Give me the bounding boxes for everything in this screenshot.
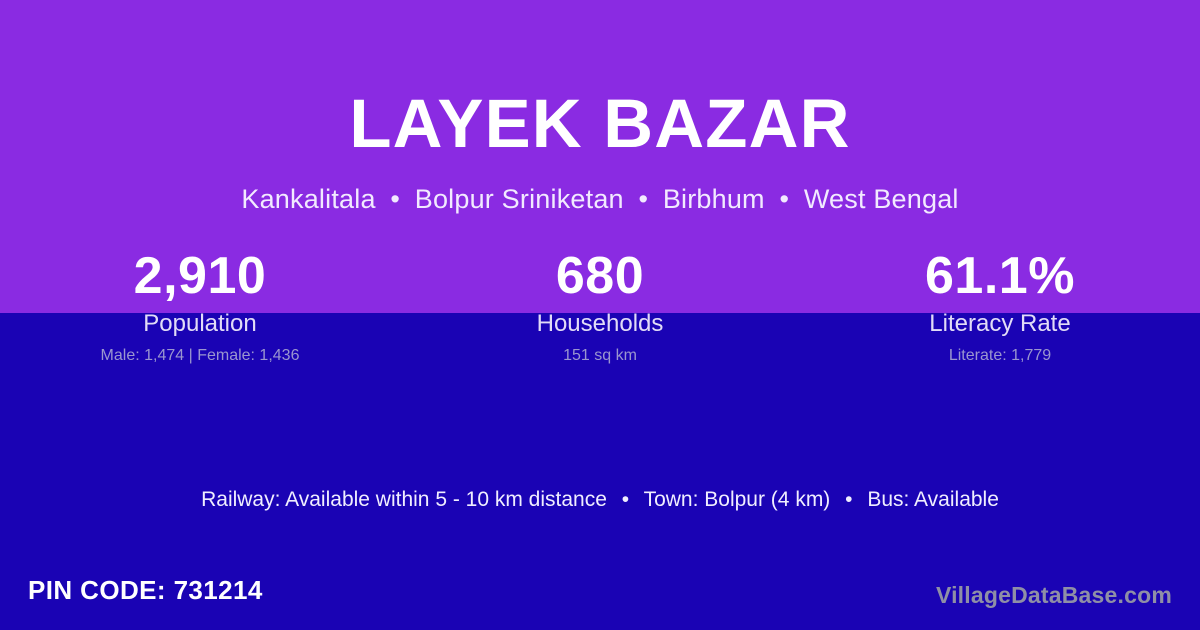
amenity-separator: • bbox=[613, 488, 638, 511]
breadcrumb-separator: • bbox=[772, 184, 796, 214]
footer: PIN CODE: 731214 VillageDataBase.com bbox=[0, 560, 1200, 630]
stat-literacy-rate: 61.1% Literacy Rate Literate: 1,779 bbox=[800, 245, 1200, 366]
pin-code: PIN CODE: 731214 bbox=[28, 574, 263, 606]
stat-value: 61.1% bbox=[800, 245, 1200, 307]
amenity-railway: Railway: Available within 5 - 10 km dist… bbox=[201, 488, 607, 511]
breadcrumb-separator: • bbox=[383, 184, 407, 214]
amenity-bus: Bus: Available bbox=[867, 488, 999, 511]
stats-row: 2,910 Population Male: 1,474 | Female: 1… bbox=[0, 245, 1200, 366]
stat-sublabel: 151 sq km bbox=[400, 345, 800, 366]
breadcrumb-separator: • bbox=[631, 184, 655, 214]
stat-label: Households bbox=[400, 309, 800, 339]
stat-value: 2,910 bbox=[0, 245, 400, 307]
stat-households: 680 Households 151 sq km bbox=[400, 245, 800, 366]
stat-value: 680 bbox=[400, 245, 800, 307]
breadcrumb: Kankalitala • Bolpur Sriniketan • Birbhu… bbox=[0, 183, 1200, 216]
site-brand: VillageDataBase.com bbox=[936, 580, 1172, 610]
stat-population: 2,910 Population Male: 1,474 | Female: 1… bbox=[0, 245, 400, 366]
stat-label: Literacy Rate bbox=[800, 309, 1200, 339]
breadcrumb-item-block: Kankalitala bbox=[241, 184, 375, 214]
stat-label: Population bbox=[0, 309, 400, 339]
amenity-separator: • bbox=[836, 488, 861, 511]
village-info-card: LAYEK BAZAR Kankalitala • Bolpur Srinike… bbox=[0, 0, 1200, 630]
breadcrumb-item-district: Birbhum bbox=[663, 184, 765, 214]
amenity-town: Town: Bolpur (4 km) bbox=[644, 488, 831, 511]
breadcrumb-item-state: West Bengal bbox=[804, 184, 959, 214]
stat-sublabel: Literate: 1,779 bbox=[800, 345, 1200, 366]
amenities-line: Railway: Available within 5 - 10 km dist… bbox=[0, 486, 1200, 514]
stat-sublabel: Male: 1,474 | Female: 1,436 bbox=[0, 345, 400, 366]
page-title: LAYEK BAZAR bbox=[0, 86, 1200, 162]
breadcrumb-item-subdistrict: Bolpur Sriniketan bbox=[415, 184, 624, 214]
